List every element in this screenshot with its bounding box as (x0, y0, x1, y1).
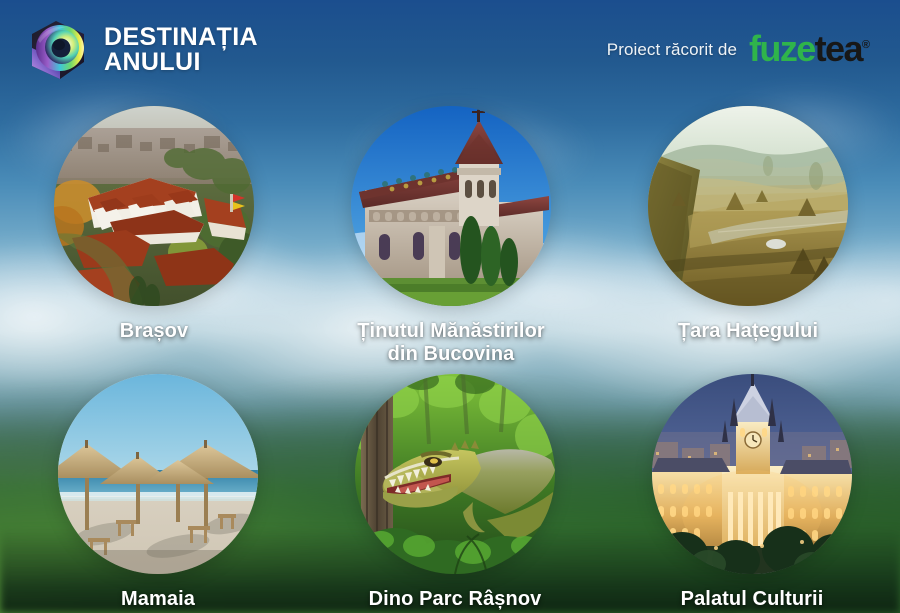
brand-lockup[interactable]: DESTINAȚIA ANULUI (26, 18, 258, 82)
fuzetea-logo: fuzetea® (749, 31, 870, 67)
destination-card-bucovina[interactable]: Ținutul Mănăstirilor din Bucovina (351, 106, 551, 366)
destinations-grid: Brașov (0, 100, 900, 613)
destinations-row-1: Brașov (0, 100, 900, 366)
hateg-misty-hills-photo (648, 106, 848, 306)
fuzetea-logo-fuze: fuze (749, 28, 815, 69)
sponsor-lockup[interactable]: Proiect răcorit de fuzetea® (607, 32, 876, 68)
destinations-row-2: Mamaia (0, 366, 900, 613)
destination-card-brasov[interactable]: Brașov (54, 106, 254, 343)
bucovina-monastery-photo (351, 106, 551, 306)
destination-label-hateg: Țara Hațegului (678, 320, 818, 343)
destination-label-dinoparc: Dino Parc Râșnov (369, 588, 542, 611)
mamaia-beach-photo (58, 374, 258, 574)
palatul-culturii-iasi-photo (652, 374, 852, 574)
destination-label-mamaia: Mamaia (121, 588, 195, 611)
destination-card-iasi[interactable]: Palatul Culturii din Iași (652, 374, 852, 613)
poster-stage: DESTINAȚIA ANULUI Proiect răcorit de fuz… (0, 0, 900, 613)
destination-card-dinoparc[interactable]: Dino Parc Râșnov (355, 374, 555, 611)
lens-ring-logo-icon (26, 18, 90, 82)
registered-mark-icon: ® (862, 39, 870, 51)
destination-label-bucovina: Ținutul Mănăstirilor din Bucovina (357, 320, 545, 366)
destination-card-mamaia[interactable]: Mamaia (58, 374, 258, 611)
destination-card-hateg[interactable]: Țara Hațegului (648, 106, 848, 343)
destination-label-iasi: Palatul Culturii din Iași (681, 588, 824, 613)
fuzetea-logo-tea: tea (815, 28, 862, 69)
brasov-citadel-aerial-photo (54, 106, 254, 306)
dino-parc-trex-photo (355, 374, 555, 574)
page-title: DESTINAȚIA ANULUI (104, 25, 258, 76)
poster-header: DESTINAȚIA ANULUI Proiect răcorit de fuz… (0, 0, 900, 100)
sponsor-caption: Proiect răcorit de (607, 40, 737, 60)
destination-label-brasov: Brașov (120, 320, 188, 343)
